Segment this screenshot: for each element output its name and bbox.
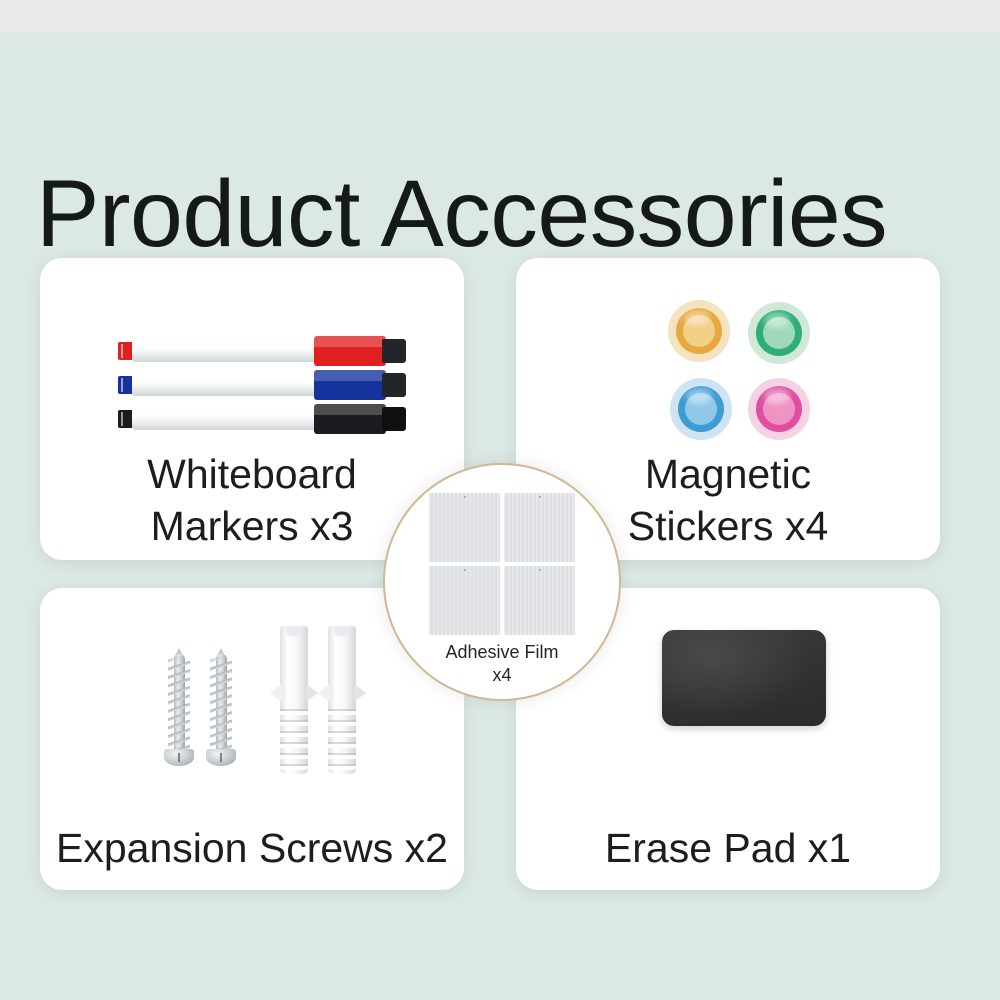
anchor-wing	[306, 684, 318, 702]
adhesive-film-grid	[429, 493, 575, 635]
blue-magnet	[670, 378, 732, 440]
adhesive-film-quantity: x4	[393, 664, 611, 687]
screw-head	[206, 749, 236, 766]
infographic-canvas: Product Accessories	[0, 0, 1000, 1000]
marker-cap	[314, 370, 386, 400]
orange-magnet	[668, 300, 730, 362]
marker-end-cap	[382, 339, 406, 363]
blue-marker	[118, 370, 408, 400]
adhesive-film-label: Adhesive Film x4	[393, 641, 611, 687]
adhesive-film-square	[429, 493, 500, 562]
page-title: Product Accessories	[36, 160, 976, 268]
screw	[210, 654, 232, 766]
magnet-gloss	[764, 312, 790, 328]
magnet-gloss	[684, 310, 710, 326]
red-marker	[118, 336, 408, 366]
adhesive-film-name: Adhesive Film	[393, 641, 611, 664]
black-marker	[118, 404, 408, 434]
adhesive-film-badge[interactable]: Adhesive Film x4	[383, 463, 621, 701]
screw-threads	[210, 656, 232, 750]
magnets-illustration	[516, 258, 940, 453]
marker-end-cap	[382, 373, 406, 397]
anchor-bore	[286, 626, 302, 636]
anchor-wing	[354, 684, 366, 702]
anchor-wing	[270, 684, 282, 702]
wall-anchor	[274, 626, 314, 774]
anchor-wing	[318, 684, 330, 702]
card-label-line1: Whiteboard	[54, 448, 450, 500]
card-label-line1: Magnetic	[530, 448, 926, 500]
card-whiteboard-markers[interactable]: Whiteboard Markers x3	[40, 258, 464, 560]
screw-threads	[168, 656, 190, 750]
pink-magnet	[748, 378, 810, 440]
anchor-ribs	[328, 704, 356, 772]
anchor-bore	[334, 626, 350, 636]
screw	[168, 654, 190, 766]
adhesive-film-square	[504, 566, 575, 635]
marker-barrel	[132, 408, 318, 430]
marker-end-cap	[382, 407, 406, 431]
green-magnet	[748, 302, 810, 364]
magnet-gloss	[764, 388, 790, 404]
card-label-expansion-screws: Expansion Screws x2	[54, 822, 450, 874]
marker-barrel	[132, 374, 318, 396]
adhesive-film-square	[504, 493, 575, 562]
magnet-gloss	[686, 388, 712, 404]
anchor-ribs	[280, 704, 308, 772]
wall-anchor	[322, 626, 362, 774]
marker-cap	[314, 336, 386, 366]
screw-head	[164, 749, 194, 766]
card-label-erase-pad: Erase Pad x1	[530, 822, 926, 874]
adhesive-film-square	[429, 566, 500, 635]
erase-pad	[662, 630, 826, 726]
markers-illustration	[40, 258, 464, 453]
card-label-whiteboard-markers: Whiteboard Markers x3	[54, 448, 450, 552]
marker-barrel	[132, 340, 318, 362]
marker-cap	[314, 404, 386, 434]
